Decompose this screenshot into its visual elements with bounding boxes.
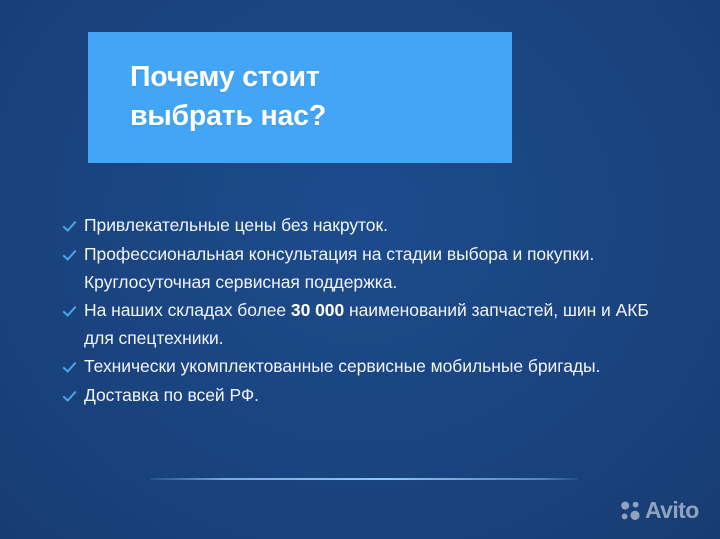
list-item: Привлекательные цены без накруток. xyxy=(62,211,662,240)
check-icon xyxy=(62,211,84,240)
check-icon xyxy=(62,240,84,269)
list-item: Профессиональная консультация на стадии … xyxy=(62,240,662,296)
benefits-list: Привлекательные цены без накруток.Профес… xyxy=(62,211,662,410)
avito-watermark: Avito xyxy=(620,499,699,522)
list-item-label: Технически укомплектованные сервисные мо… xyxy=(84,352,662,380)
check-icon xyxy=(62,352,84,381)
list-item-label: Доставка по всей РФ. xyxy=(84,381,662,409)
avito-wordmark: Avito xyxy=(645,499,699,522)
divider xyxy=(150,478,578,480)
list-item: На наших складах более 30 000 наименован… xyxy=(62,296,662,352)
slide-canvas: Почему стоит выбрать нас? Привлекательны… xyxy=(0,0,720,539)
check-icon xyxy=(62,381,84,410)
list-item-label: Профессиональная консультация на стадии … xyxy=(84,240,662,296)
title-box: Почему стоит выбрать нас? xyxy=(88,32,512,163)
list-item-label: На наших складах более 30 000 наименован… xyxy=(84,296,662,352)
check-icon xyxy=(62,296,84,325)
list-item: Технически укомплектованные сервисные мо… xyxy=(62,352,662,381)
list-item-label: Привлекательные цены без накруток. xyxy=(84,211,662,239)
page-title: Почему стоит выбрать нас? xyxy=(130,58,496,136)
avito-dots-logo-icon xyxy=(620,500,642,522)
list-item: Доставка по всей РФ. xyxy=(62,381,662,410)
